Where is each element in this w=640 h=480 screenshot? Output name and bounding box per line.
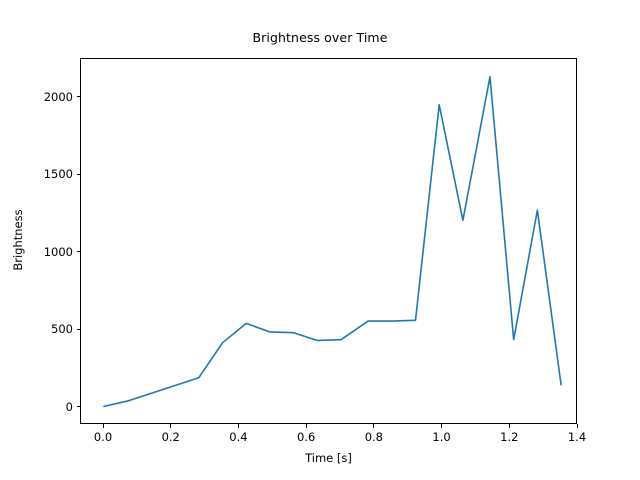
y-axis-label: Brightness xyxy=(11,180,25,300)
chart-figure: Brightness over Time 0500100015002000 0.… xyxy=(0,0,640,480)
x-axis-label: Time [s] xyxy=(229,451,429,465)
x-tick-label: 0.4 xyxy=(208,430,268,444)
plot-area xyxy=(81,59,578,425)
x-tick-label: 0.2 xyxy=(141,430,201,444)
x-tick-label: 1.4 xyxy=(547,430,607,444)
x-tick-label: 0.6 xyxy=(276,430,336,444)
y-tick-label: 500 xyxy=(13,322,73,336)
x-tick-label: 1.0 xyxy=(412,430,472,444)
x-tick-label: 0.8 xyxy=(344,430,404,444)
x-tick-label: 0.0 xyxy=(73,430,133,444)
x-tick-label: 1.2 xyxy=(479,430,539,444)
plot-axes xyxy=(80,58,577,424)
chart-title: Brightness over Time xyxy=(0,30,640,45)
y-tick-label: 2000 xyxy=(13,90,73,104)
data-series-line xyxy=(104,77,561,407)
y-tick-label: 0 xyxy=(13,400,73,414)
